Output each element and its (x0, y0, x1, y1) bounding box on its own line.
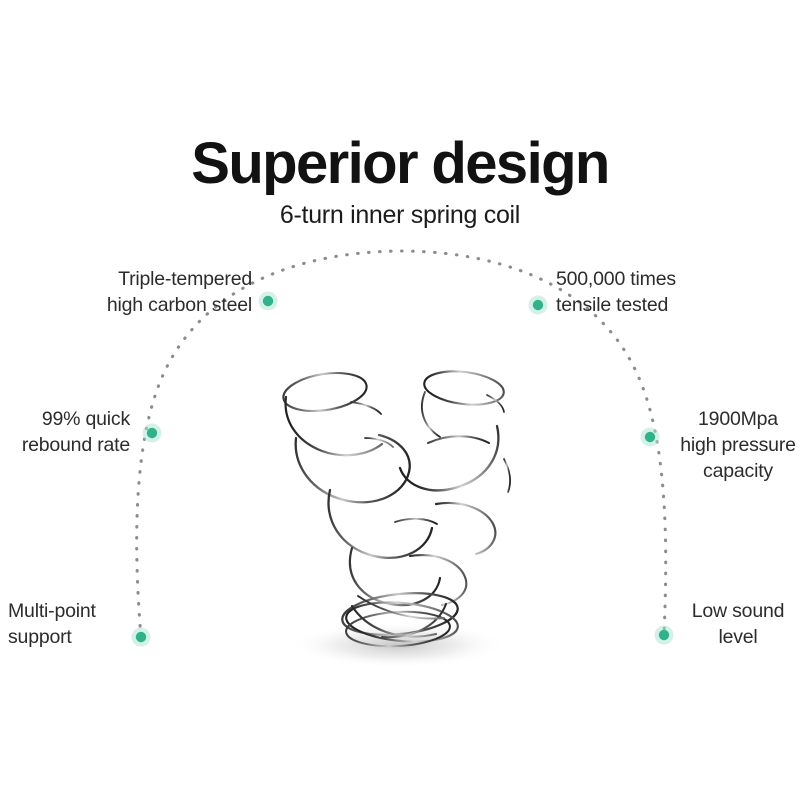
callout-label-pressure-capacity: 1900Mpa high pressure capacity (676, 406, 800, 484)
callout-label-tensile-tested: 500,000 times tensile tested (556, 266, 766, 318)
marker-multi-point-support[interactable] (132, 628, 151, 647)
callout-label-low-sound-level: Low sound level (682, 598, 794, 650)
marker-tensile-tested[interactable] (529, 296, 548, 315)
marker-triple-tempered[interactable] (259, 292, 278, 311)
callout-label-rebound-rate: 99% quick rebound rate (0, 406, 130, 458)
callout-label-multi-point-support: Multi-point support (8, 598, 120, 650)
marker-rebound-rate[interactable] (143, 424, 162, 443)
marker-group (132, 292, 674, 647)
infographic-page: Superior design 6-turn inner spring coil (0, 0, 800, 800)
marker-low-sound-level[interactable] (655, 626, 674, 645)
dotted-arc-diagram (0, 0, 800, 800)
marker-pressure-capacity[interactable] (641, 428, 660, 447)
callout-label-triple-tempered: Triple-tempered high carbon steel (52, 266, 252, 318)
